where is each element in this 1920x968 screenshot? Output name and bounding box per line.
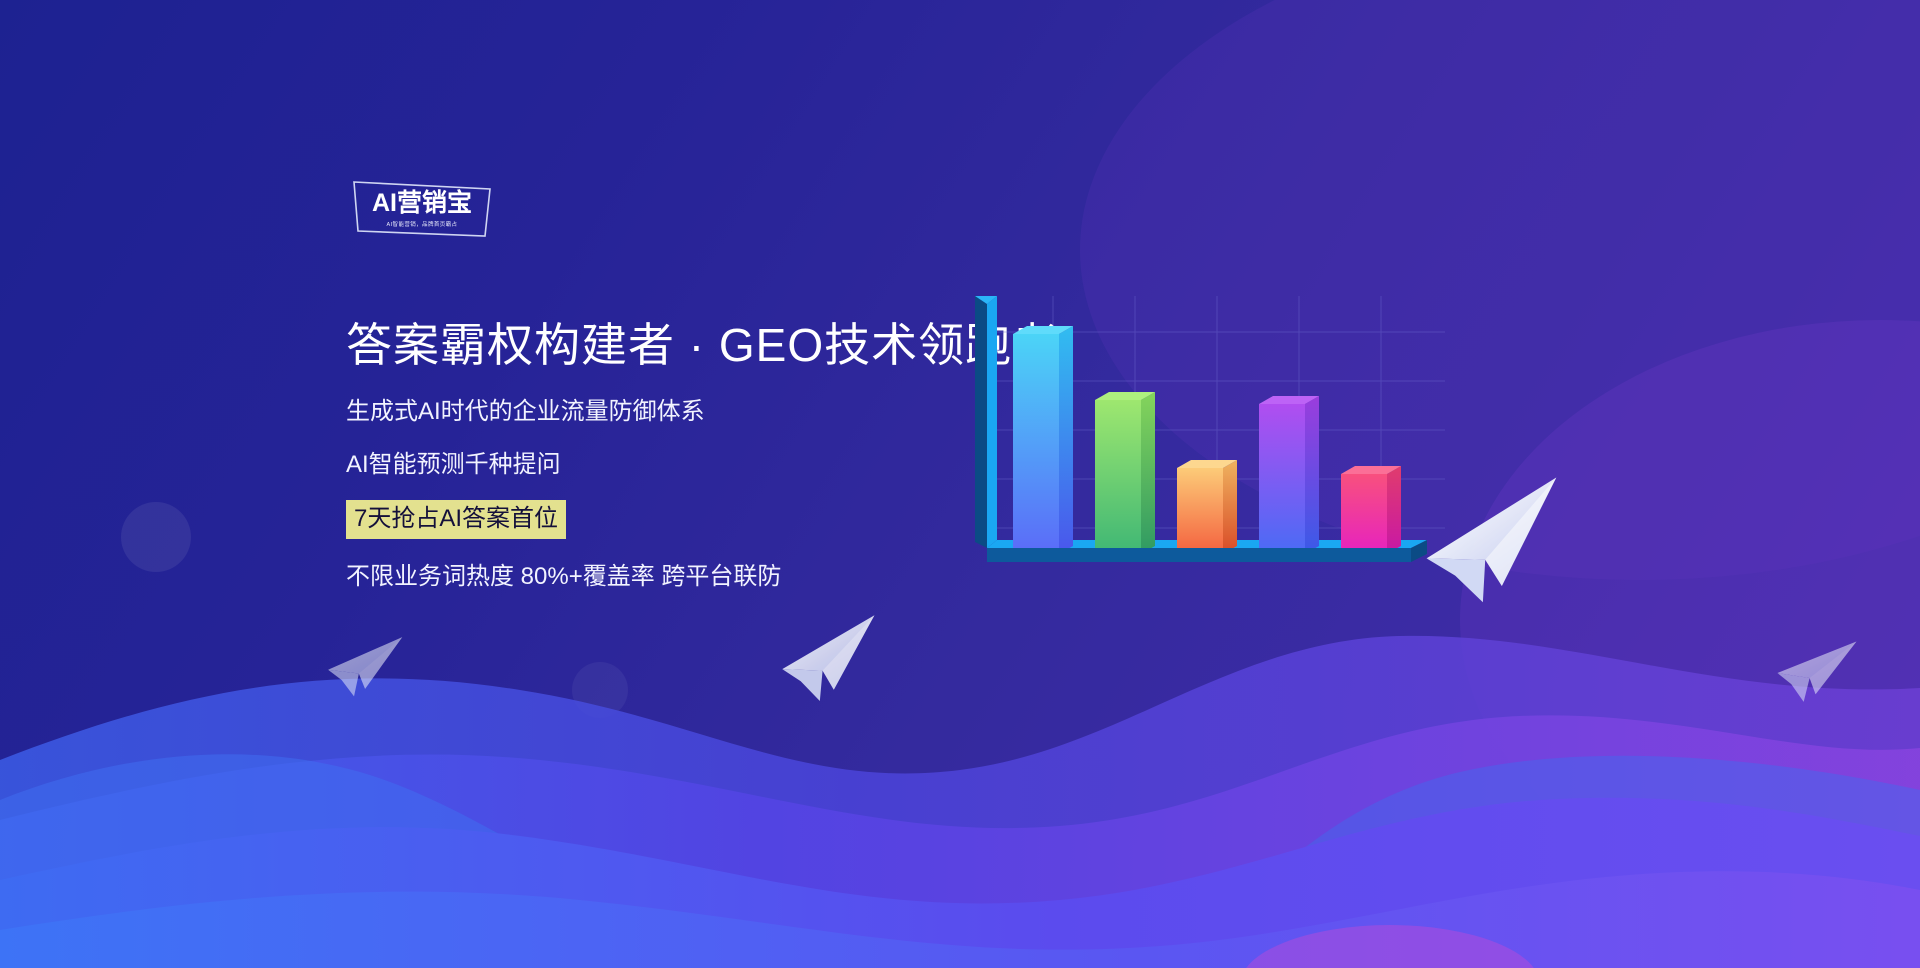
chart-bar-3 [1177, 460, 1237, 554]
chart-bar-1 [1013, 326, 1073, 554]
hero-copy: 答案霸权构建者 · GEO技术领跑者 生成式AI时代的企业流量防御体系 AI智能… [346, 315, 1046, 592]
hero-subtitle-1: 生成式AI时代的企业流量防御体系 [346, 397, 1046, 427]
hero-subtitle-4: 不限业务词热度 80%+覆盖率 跨平台联防 [346, 562, 1046, 592]
chart-y-axis [975, 296, 997, 548]
decor-circle-left [121, 502, 191, 572]
chart-bar-2 [1095, 392, 1155, 554]
brand-logo[interactable]: AI营销宝 AI智能营销，品牌首页霸占 [352, 178, 492, 240]
page-title: 答案霸权构建者 · GEO技术领跑者 [346, 315, 1046, 375]
hero-highlight-row: 7天抢占AI答案首位 [346, 500, 1046, 539]
hero-subtitle-2: AI智能预测千种提问 [346, 450, 1046, 480]
logo-tagline: AI智能营销，品牌首页霸占 [352, 220, 492, 228]
hero-banner: AI营销宝 AI智能营销，品牌首页霸占 答案霸权构建者 · GEO技术领跑者 生… [0, 0, 1920, 968]
bar-chart-illustration [975, 296, 1445, 656]
logo-wordmark: AI营销宝 [362, 188, 482, 218]
hero-highlight-badge: 7天抢占AI答案首位 [346, 500, 566, 539]
chart-bar-4 [1259, 396, 1319, 554]
paper-plane-mid [775, 615, 891, 708]
chart-bar-5 [1341, 466, 1401, 554]
